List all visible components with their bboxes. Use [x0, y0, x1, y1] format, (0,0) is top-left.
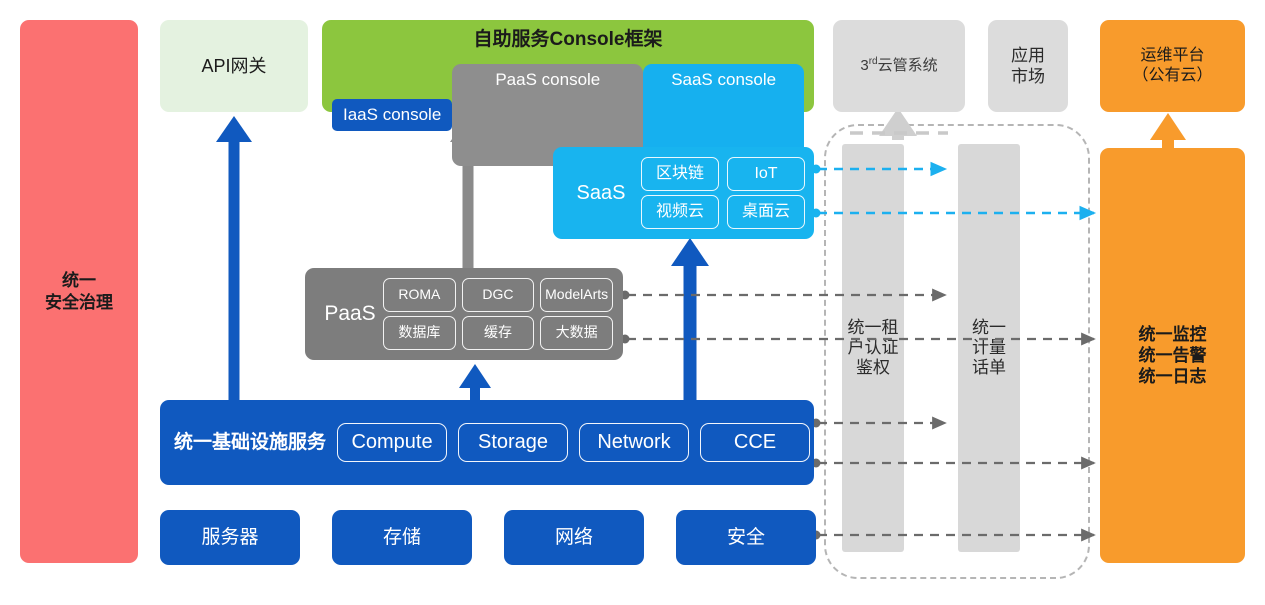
paas-item-cache[interactable]: 缓存 — [462, 316, 535, 350]
third-party-prefix: 3 — [860, 57, 868, 74]
tenant-auth-line3: 鉴权 — [856, 358, 890, 377]
governance-line1: 统一 — [62, 271, 96, 290]
ops-body-line2: 统一告警 — [1139, 346, 1207, 365]
pill-iaas-console[interactable]: IaaS console — [332, 99, 452, 130]
third-party-cloud-management[interactable]: 3rd云管系统 — [833, 20, 965, 112]
saas-item-video-cloud[interactable]: 视频云 — [641, 195, 719, 229]
paas-layer[interactable]: PaaS ROMA DGC ModelArts 数据库 缓存 大数据 — [305, 268, 623, 360]
paas-layer-label: PaaS — [315, 268, 385, 360]
tenant-auth-line1: 统一租 — [848, 318, 899, 337]
metering-line1: 统一 — [972, 318, 1006, 337]
ops-platform-body-label: 统一监控 统一告警 统一日志 — [1139, 324, 1207, 388]
resource-box-storage[interactable]: 存储 — [332, 510, 472, 565]
ops-platform-capabilities[interactable]: 统一监控 统一告警 统一日志 — [1100, 148, 1245, 563]
ops-body-line3: 统一日志 — [1139, 367, 1207, 386]
app-market-line1: 应用 — [1011, 46, 1045, 65]
governance-line2: 安全治理 — [45, 293, 113, 312]
self-service-console-frame[interactable]: 自助服务Console框架 IaaS console PaaS console … — [322, 20, 814, 112]
column-metering-billing: 统一 计量 话单 — [958, 144, 1020, 552]
governance-label: 统一 安全治理 — [45, 270, 113, 313]
infra-services-label: 统一基础设施服务 — [174, 431, 326, 455]
arrow-infra-to-saas — [671, 238, 709, 400]
app-marketplace-label: 应用 市场 — [1011, 45, 1045, 88]
unified-security-governance[interactable]: 统一 安全治理 — [20, 20, 138, 563]
infra-item-network[interactable]: Network — [579, 423, 689, 462]
infra-item-compute[interactable]: Compute — [337, 423, 447, 462]
tenant-auth-line2: 户认证 — [848, 338, 899, 357]
arrow-ops-body-to-ops-top — [1150, 113, 1186, 148]
resource-box-network[interactable]: 网络 — [504, 510, 644, 565]
paas-item-dgc[interactable]: DGC — [462, 278, 535, 312]
saas-item-blockchain[interactable]: 区块链 — [641, 157, 719, 191]
third-party-superscript: rd — [869, 56, 878, 67]
paas-item-grid: ROMA DGC ModelArts 数据库 缓存 大数据 — [383, 278, 613, 350]
architecture-diagram: 统一租 户认证 鉴权 统一 计量 话单 — [0, 0, 1265, 605]
infra-row: 统一基础设施服务 Compute Storage Network CCE — [160, 400, 814, 485]
resource-box-server[interactable]: 服务器 — [160, 510, 300, 565]
column-tenant-auth: 统一租 户认证 鉴权 — [842, 144, 904, 552]
console-frame-title: 自助服务Console框架 — [322, 28, 814, 52]
saas-layer-label: SaaS — [565, 147, 637, 239]
ops-body-line1: 统一监控 — [1139, 325, 1207, 344]
unified-infrastructure-services[interactable]: 统一基础设施服务 Compute Storage Network CCE — [160, 400, 814, 485]
saas-item-grid: 区块链 IoT 视频云 桌面云 — [641, 157, 805, 229]
app-marketplace-box[interactable]: 应用 市场 — [988, 20, 1068, 112]
third-party-label: 3rd云管系统 — [860, 56, 937, 76]
arrow-infra-to-paas — [459, 364, 491, 400]
saas-item-iot[interactable]: IoT — [727, 157, 805, 191]
resource-network-label: 网络 — [555, 526, 593, 550]
column-metering-billing-label: 统一 计量 话单 — [972, 318, 1006, 378]
infra-item-cce[interactable]: CCE — [700, 423, 810, 462]
saas-layer[interactable]: SaaS 区块链 IoT 视频云 桌面云 — [553, 147, 814, 239]
ops-platform-public-cloud[interactable]: 运维平台 （公有云） — [1100, 20, 1245, 112]
third-party-rest: 云管系统 — [878, 57, 938, 74]
column-tenant-auth-label: 统一租 户认证 鉴权 — [848, 318, 899, 378]
resource-security-label: 安全 — [727, 526, 765, 550]
ops-top-line2: （公有云） — [1132, 67, 1212, 84]
ops-top-line1: 运维平台 — [1140, 47, 1204, 64]
ops-platform-top-label: 运维平台 （公有云） — [1132, 46, 1212, 86]
metering-line2: 计量 — [972, 338, 1006, 357]
api-gateway-label: API网关 — [201, 55, 266, 78]
resource-box-security[interactable]: 安全 — [676, 510, 816, 565]
paas-item-modelarts[interactable]: ModelArts — [540, 278, 613, 312]
infra-item-storage[interactable]: Storage — [458, 423, 568, 462]
saas-item-desktop-cloud[interactable]: 桌面云 — [727, 195, 805, 229]
metering-line3: 话单 — [972, 358, 1006, 377]
paas-item-bigdata[interactable]: 大数据 — [540, 316, 613, 350]
paas-item-roma[interactable]: ROMA — [383, 278, 456, 312]
api-gateway-box[interactable]: API网关 — [160, 20, 308, 112]
app-market-line2: 市场 — [1011, 67, 1045, 86]
arrow-infra-to-apigw — [216, 116, 252, 400]
paas-item-database[interactable]: 数据库 — [383, 316, 456, 350]
resource-server-label: 服务器 — [201, 526, 258, 550]
resource-storage-label: 存储 — [383, 526, 421, 550]
